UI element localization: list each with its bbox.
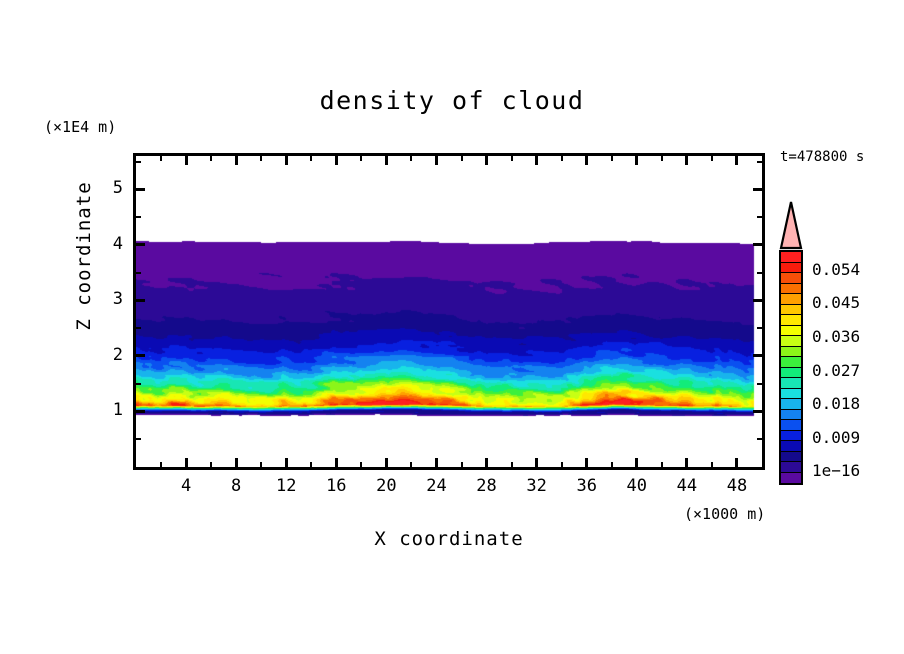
x-tick-top bbox=[611, 156, 613, 161]
colorbar-tick-label: 0.018 bbox=[812, 394, 860, 413]
x-tick-top bbox=[335, 156, 338, 165]
x-tick-label: 36 bbox=[567, 476, 607, 496]
x-tick-top bbox=[735, 156, 738, 165]
y-tick-left bbox=[136, 354, 145, 357]
x-tick-label: 12 bbox=[266, 476, 306, 496]
plot-area bbox=[133, 153, 765, 470]
colorbar-tick-label: 0.027 bbox=[812, 361, 860, 380]
x-tick-bottom bbox=[210, 462, 212, 467]
y-tick-left bbox=[136, 299, 145, 302]
x-tick-top bbox=[635, 156, 638, 165]
x-tick-top bbox=[485, 156, 488, 165]
colorbar-tick-label: 0.054 bbox=[812, 260, 860, 279]
x-tick-bottom bbox=[685, 458, 688, 467]
y-tick-right bbox=[757, 438, 762, 440]
y-tick-left bbox=[136, 438, 141, 440]
colorbar-tick-label: 0.009 bbox=[812, 428, 860, 447]
colorbar-swatch bbox=[781, 410, 801, 421]
y-tick-right bbox=[753, 243, 762, 246]
x-tick-bottom bbox=[535, 458, 538, 467]
colorbar-tick-label: 0.045 bbox=[812, 293, 860, 312]
time-annotation: t=478800 s bbox=[780, 149, 864, 165]
x-tick-label: 40 bbox=[617, 476, 657, 496]
x-tick-top bbox=[160, 156, 162, 161]
colorbar-tick-label: 1e−16 bbox=[812, 461, 860, 480]
y-tick-right bbox=[757, 216, 762, 218]
y-tick-right bbox=[757, 383, 762, 385]
colorbar-swatch bbox=[781, 462, 801, 473]
x-tick-top bbox=[310, 156, 312, 161]
x-tick-top bbox=[561, 156, 563, 161]
colorbar-swatch bbox=[781, 273, 801, 284]
x-tick-bottom bbox=[360, 462, 362, 467]
y-tick-right bbox=[753, 299, 762, 302]
figure-canvas: density of cloud (×1E4 m) (×1000 m) X co… bbox=[0, 0, 904, 654]
x-axis-title: X coordinate bbox=[133, 528, 765, 550]
x-tick-top bbox=[210, 156, 212, 161]
colorbar-swatch bbox=[781, 294, 801, 305]
colorbar-swatch bbox=[781, 315, 801, 326]
x-tick-bottom bbox=[635, 458, 638, 467]
x-tick-bottom bbox=[461, 462, 463, 467]
colorbar bbox=[779, 200, 803, 485]
colorbar-swatch bbox=[781, 473, 801, 484]
x-tick-top bbox=[360, 156, 362, 161]
x-tick-label: 16 bbox=[316, 476, 356, 496]
colorbar-swatch bbox=[781, 326, 801, 337]
y-tick-right bbox=[753, 354, 762, 357]
x-tick-bottom bbox=[285, 458, 288, 467]
x-tick-bottom bbox=[585, 458, 588, 467]
colorbar-swatch bbox=[781, 399, 801, 410]
x-tick-label: 20 bbox=[366, 476, 406, 496]
x-tick-top bbox=[410, 156, 412, 161]
y-tick-label: 4 bbox=[95, 234, 123, 254]
colorbar-swatch bbox=[781, 441, 801, 452]
colorbar-swatch bbox=[781, 252, 801, 263]
x-tick-bottom bbox=[335, 458, 338, 467]
x-tick-bottom bbox=[235, 458, 238, 467]
x-tick-label: 32 bbox=[517, 476, 557, 496]
y-axis-unit-label: (×1E4 m) bbox=[44, 118, 116, 136]
x-tick-top bbox=[461, 156, 463, 161]
x-tick-bottom bbox=[611, 462, 613, 467]
y-tick-label: 1 bbox=[95, 400, 123, 420]
y-tick-right bbox=[757, 161, 762, 163]
y-tick-right bbox=[757, 272, 762, 274]
x-tick-top bbox=[435, 156, 438, 165]
x-tick-label: 4 bbox=[166, 476, 206, 496]
x-tick-bottom bbox=[260, 462, 262, 467]
y-tick-right bbox=[753, 188, 762, 191]
colorbar-swatch bbox=[781, 420, 801, 431]
x-tick-top bbox=[535, 156, 538, 165]
x-tick-label: 24 bbox=[416, 476, 456, 496]
y-tick-left bbox=[136, 383, 141, 385]
x-tick-bottom bbox=[485, 458, 488, 467]
colorbar-swatch bbox=[781, 284, 801, 295]
x-tick-top bbox=[711, 156, 713, 161]
x-tick-bottom bbox=[561, 462, 563, 467]
y-tick-left bbox=[136, 161, 141, 163]
x-tick-top bbox=[235, 156, 238, 165]
x-tick-bottom bbox=[735, 458, 738, 467]
x-tick-bottom bbox=[661, 462, 663, 467]
colorbar-swatches bbox=[779, 250, 803, 485]
colorbar-swatch bbox=[781, 347, 801, 358]
x-tick-top bbox=[385, 156, 388, 165]
colorbar-swatch bbox=[781, 452, 801, 463]
colorbar-swatch bbox=[781, 368, 801, 379]
colorbar-swatch bbox=[781, 336, 801, 347]
x-tick-bottom bbox=[160, 462, 162, 467]
y-tick-left bbox=[136, 188, 145, 191]
x-tick-top bbox=[585, 156, 588, 165]
x-tick-bottom bbox=[310, 462, 312, 467]
y-tick-label: 2 bbox=[95, 345, 123, 365]
colorbar-swatch bbox=[781, 389, 801, 400]
colorbar-swatch bbox=[781, 378, 801, 389]
colorbar-swatch bbox=[781, 305, 801, 316]
x-tick-bottom bbox=[410, 462, 412, 467]
y-tick-label: 5 bbox=[95, 178, 123, 198]
x-tick-bottom bbox=[711, 462, 713, 467]
colorbar-swatch bbox=[781, 431, 801, 442]
colorbar-tick-label: 0.036 bbox=[812, 327, 860, 346]
page-title: density of cloud bbox=[0, 86, 904, 115]
x-tick-top bbox=[260, 156, 262, 161]
y-tick-right bbox=[753, 410, 762, 413]
x-axis-unit-label: (×1000 m) bbox=[684, 505, 765, 523]
y-tick-left bbox=[136, 243, 145, 246]
y-tick-left bbox=[136, 216, 141, 218]
x-tick-top bbox=[185, 156, 188, 165]
y-tick-left bbox=[136, 272, 141, 274]
x-tick-top bbox=[511, 156, 513, 161]
x-tick-bottom bbox=[511, 462, 513, 467]
colorbar-overflow-arrow-icon bbox=[779, 200, 803, 250]
y-tick-label: 3 bbox=[95, 289, 123, 309]
x-tick-bottom bbox=[385, 458, 388, 467]
y-tick-left bbox=[136, 410, 145, 413]
colorbar-swatch bbox=[781, 357, 801, 368]
density-heatmap bbox=[136, 156, 762, 467]
x-tick-bottom bbox=[185, 458, 188, 467]
x-tick-label: 44 bbox=[667, 476, 707, 496]
x-tick-top bbox=[685, 156, 688, 165]
x-tick-label: 28 bbox=[467, 476, 507, 496]
x-tick-label: 8 bbox=[216, 476, 256, 496]
colorbar-swatch bbox=[781, 263, 801, 274]
x-tick-top bbox=[285, 156, 288, 165]
x-tick-label: 48 bbox=[717, 476, 757, 496]
x-tick-top bbox=[661, 156, 663, 161]
y-tick-left bbox=[136, 327, 141, 329]
y-axis-title: Z coordinate bbox=[73, 156, 95, 356]
y-tick-right bbox=[757, 327, 762, 329]
x-tick-bottom bbox=[435, 458, 438, 467]
